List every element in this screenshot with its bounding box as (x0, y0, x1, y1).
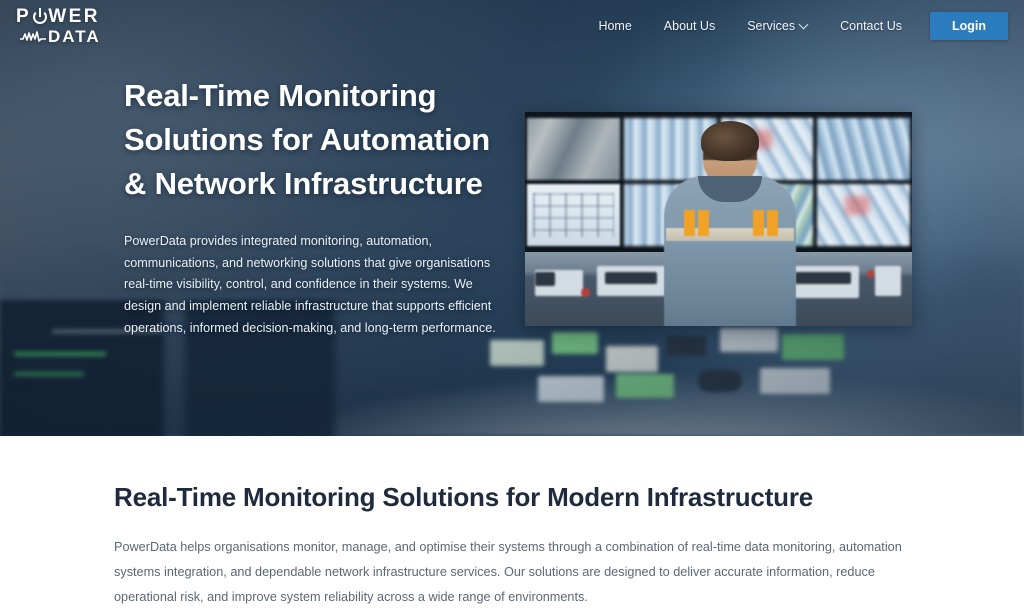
nav-item-home[interactable]: Home (582, 13, 647, 39)
operator-hi-vis-tab (698, 210, 709, 236)
nav-item-contact-us[interactable]: Contact Us (824, 13, 918, 39)
operator-hi-vis-tab (753, 210, 764, 236)
main-navigation: Home About Us Services Contact Us Login (582, 12, 1008, 40)
operator-hi-vis-tab (767, 210, 778, 236)
section-paragraph-1: PowerData helps organisations monitor, m… (114, 535, 904, 609)
waveform-icon (20, 30, 46, 43)
video-wall-screen (527, 184, 620, 246)
brand-bottom-label: DATA (48, 28, 101, 45)
operator-hi-vis-tab (684, 210, 695, 236)
brand-top-suffix: WER (48, 7, 100, 26)
content-section: Real-Time Monitoring Solutions for Moder… (0, 436, 1024, 614)
brand-name-bottom: DATA (20, 28, 101, 45)
operator-hair (701, 121, 759, 161)
video-wall-screen (817, 118, 910, 180)
nav-item-services-label: Services (747, 19, 795, 33)
hero-title: Real-Time Monitoring Solutions for Autom… (124, 74, 524, 206)
nav-item-contact-us-label: Contact Us (840, 19, 902, 33)
brand-name-top: P WER (16, 7, 101, 26)
video-wall-screen (527, 118, 620, 180)
nav-item-services[interactable]: Services (731, 13, 824, 39)
hero-image-control-room (525, 112, 912, 326)
hero-paragraph: PowerData provides integrated monitoring… (124, 231, 496, 339)
section-heading: Real-Time Monitoring Solutions for Moder… (114, 482, 904, 513)
video-wall-screen (817, 184, 910, 246)
brand-logo[interactable]: P WER DATA (16, 7, 101, 45)
hero-section: P WER DATA Home About Us Services (0, 0, 1024, 436)
nav-item-about-us-label: About Us (664, 19, 715, 33)
chevron-down-icon (800, 21, 808, 29)
brand-top-prefix: P (16, 7, 31, 26)
content-wrapper: Real-Time Monitoring Solutions for Moder… (114, 482, 904, 614)
hero-title-line-2: Solutions for Automation (124, 122, 490, 157)
nav-item-about-us[interactable]: About Us (648, 13, 731, 39)
login-button[interactable]: Login (930, 12, 1008, 40)
hero-title-line-1: Real-Time Monitoring (124, 78, 436, 113)
nav-item-home-label: Home (598, 19, 631, 33)
operator-figure (664, 124, 796, 326)
hero-text-block: Real-Time Monitoring Solutions for Autom… (124, 74, 524, 339)
site-header: P WER DATA Home About Us Services (0, 0, 1024, 52)
hero-title-line-3: & Network Infrastructure (124, 166, 483, 201)
power-symbol-icon (33, 10, 47, 24)
